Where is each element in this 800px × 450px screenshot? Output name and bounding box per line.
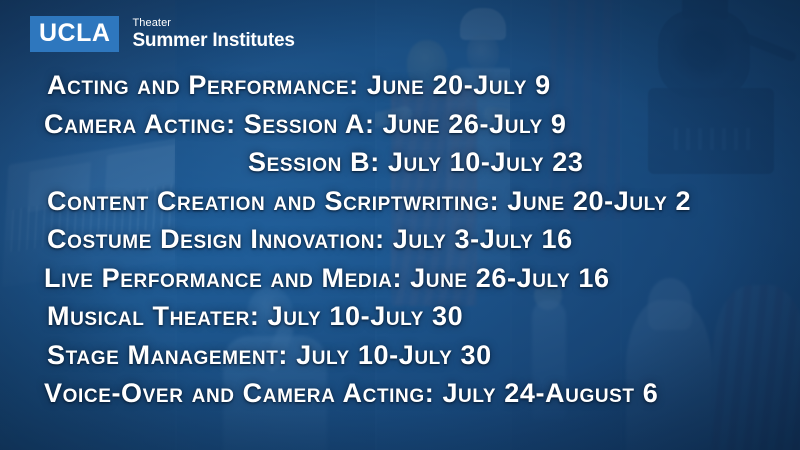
ucla-logo: UCLA Theater Summer Institutes — [30, 16, 295, 52]
logo-title-label: Summer Institutes — [132, 31, 294, 50]
program-line: Voice-Over and Camera Acting: July 24-Au… — [44, 374, 800, 413]
logo-department-label: Theater — [132, 18, 294, 29]
program-line-session-b: Session B: July 10-July 23 — [44, 143, 800, 182]
program-line: Content Creation and Scriptwriting: June… — [44, 182, 800, 221]
logo-lockup-text: Theater Summer Institutes — [132, 18, 294, 50]
program-line: Costume Design Innovation: July 3-July 1… — [44, 220, 800, 259]
program-line: Live Performance and Media: June 26-July… — [44, 259, 800, 298]
program-line: Stage Management: July 10-July 30 — [44, 336, 800, 375]
program-line: Camera Acting: Session A: June 26-July 9 — [44, 105, 800, 144]
program-line: Acting and Performance: June 20-July 9 — [44, 66, 800, 105]
program-line: Musical Theater: July 10-July 30 — [44, 297, 800, 336]
ucla-wordmark: UCLA — [30, 16, 119, 52]
summer-institutes-banner: UCLA Theater Summer Institutes Acting an… — [0, 0, 800, 450]
program-list: Acting and Performance: June 20-July 9 C… — [0, 66, 800, 413]
